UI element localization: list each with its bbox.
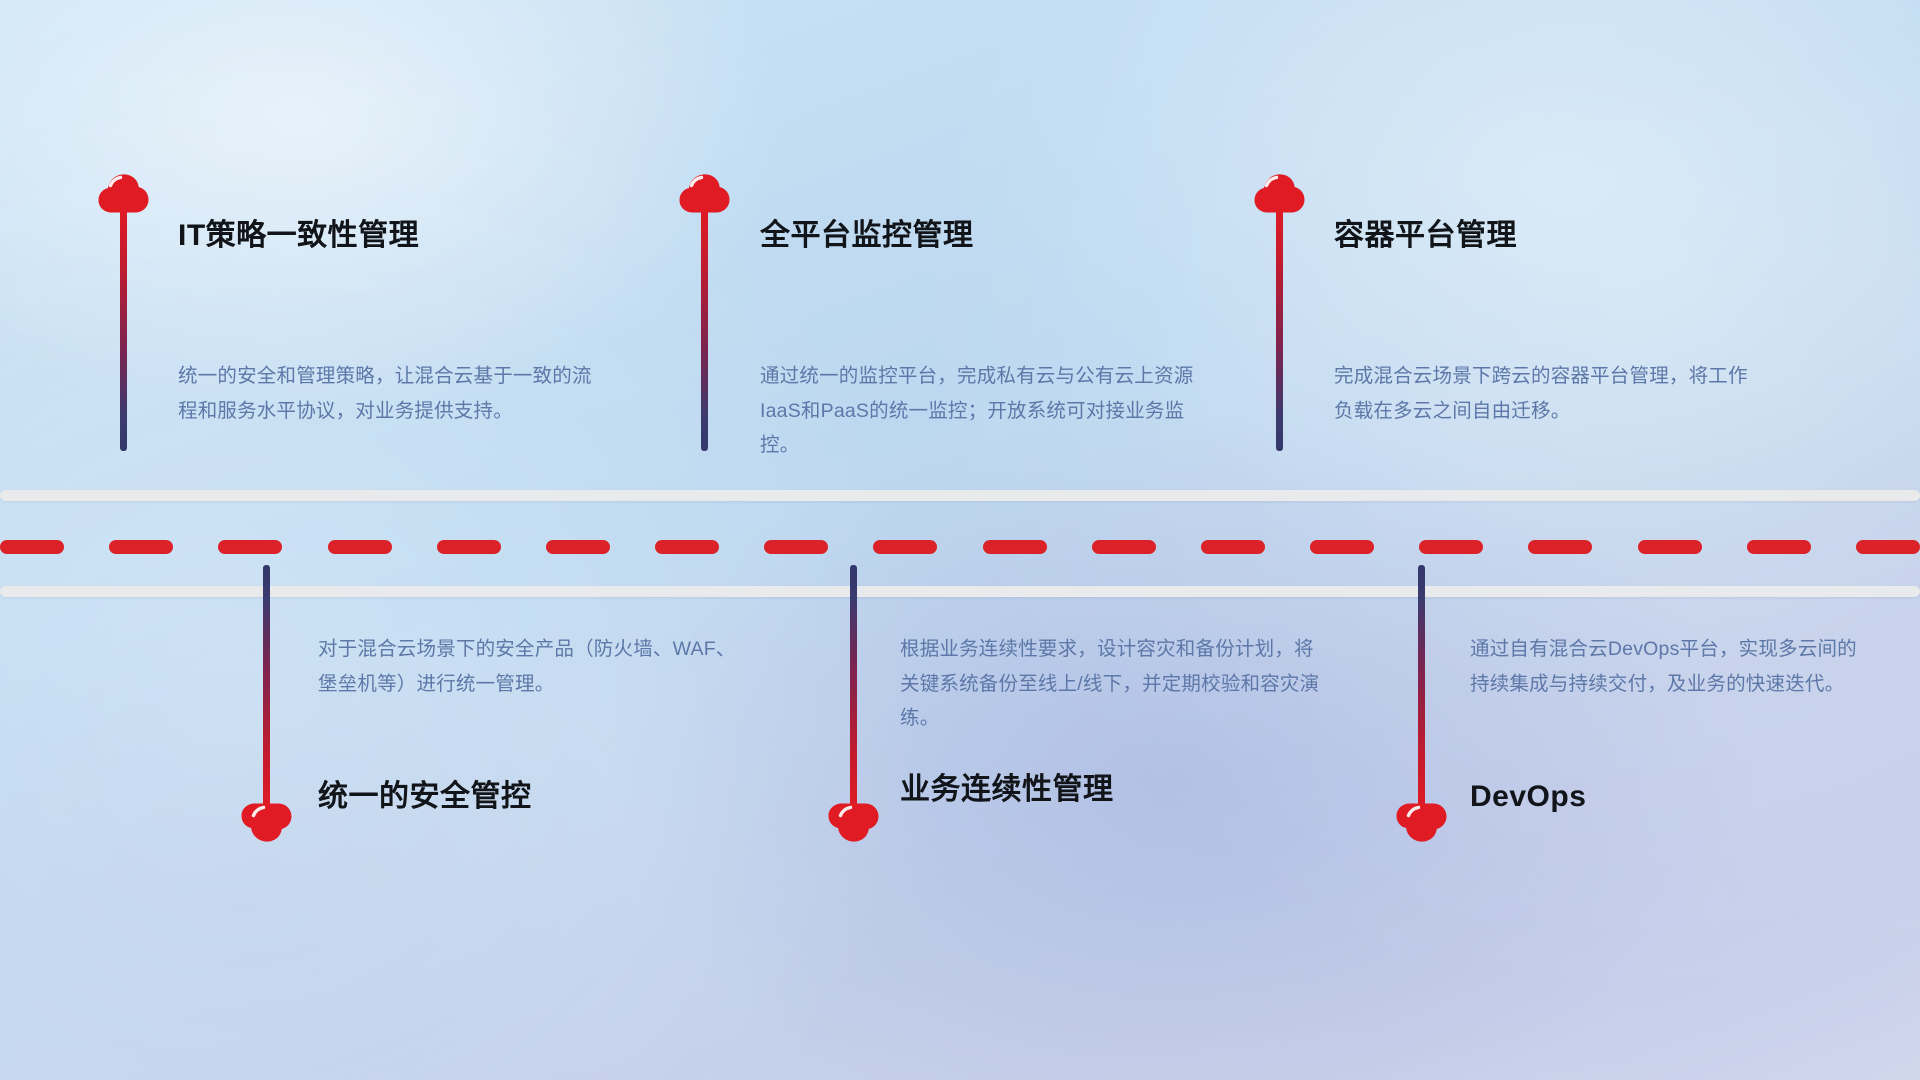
column-top-2: 全平台监控管理 通过统一的监控平台，完成私有云与公有云上资源IaaS和PaaS的… bbox=[760, 218, 1200, 463]
road-dash-segment bbox=[1092, 540, 1156, 554]
column-body: 通过自有混合云DevOps平台，实现多云间的持续集成与持续交付，及业务的快速迭代… bbox=[1470, 632, 1870, 701]
column-bottom-1: 对于混合云场景下的安全产品（防火墙、WAF、堡垒机等）进行统一管理。 统一的安全… bbox=[318, 632, 748, 815]
road-dash-segment bbox=[109, 540, 173, 554]
column-body: 根据业务连续性要求，设计容灾和备份计划，将关键系统备份至线上/线下，并定期校验和… bbox=[900, 632, 1325, 736]
pin-stem bbox=[701, 209, 708, 451]
column-heading: 业务连续性管理 bbox=[900, 772, 1340, 808]
infographic-canvas: IT策略一致性管理 统一的安全和管理策略，让混合云基于一致的流程和服务水平协议，… bbox=[0, 0, 1920, 1080]
road-dash-segment bbox=[764, 540, 828, 554]
cloud-icon bbox=[97, 166, 151, 214]
column-body: 完成混合云场景下跨云的容器平台管理，将工作负载在多云之间自由迁移。 bbox=[1334, 359, 1754, 428]
column-top-1: IT策略一致性管理 统一的安全和管理策略，让混合云基于一致的流程和服务水平协议，… bbox=[178, 218, 608, 428]
road-dash-segment bbox=[983, 540, 1047, 554]
cloud-icon bbox=[240, 802, 294, 850]
cloud-icon bbox=[827, 802, 881, 850]
column-heading: 容器平台管理 bbox=[1334, 218, 1764, 254]
cloud-icon bbox=[1395, 802, 1449, 850]
road-edge-line-bottom bbox=[0, 586, 1920, 597]
cloud-icon bbox=[678, 166, 732, 214]
column-body: 对于混合云场景下的安全产品（防火墙、WAF、堡垒机等）进行统一管理。 bbox=[318, 632, 736, 701]
road-dash-segment bbox=[1638, 540, 1702, 554]
road-dash-segment bbox=[1419, 540, 1483, 554]
road-dash-segment bbox=[1856, 540, 1920, 554]
pin-stem bbox=[263, 565, 270, 807]
road-dash-segment bbox=[328, 540, 392, 554]
pin-stem bbox=[1276, 209, 1283, 451]
pin-stem bbox=[120, 209, 127, 451]
road-dash-segment bbox=[218, 540, 282, 554]
road-dash-segment bbox=[873, 540, 937, 554]
column-heading: DevOps bbox=[1470, 779, 1890, 815]
pin-stem bbox=[1418, 565, 1425, 807]
cloud-icon bbox=[1253, 166, 1307, 214]
road-dash-segment bbox=[1528, 540, 1592, 554]
column-heading: 统一的安全管控 bbox=[318, 779, 748, 815]
road-dash-segment bbox=[437, 540, 501, 554]
road-dash-segment bbox=[1310, 540, 1374, 554]
column-heading: IT策略一致性管理 bbox=[178, 218, 608, 254]
road-edge-line-top bbox=[0, 490, 1920, 501]
column-body: 通过统一的监控平台，完成私有云与公有云上资源IaaS和PaaS的统一监控；开放系… bbox=[760, 359, 1200, 463]
road-center-dashes bbox=[0, 540, 1920, 554]
road-dash-segment bbox=[0, 540, 64, 554]
column-bottom-3: 通过自有混合云DevOps平台，实现多云间的持续集成与持续交付，及业务的快速迭代… bbox=[1470, 632, 1890, 815]
column-bottom-2: 根据业务连续性要求，设计容灾和备份计划，将关键系统备份至线上/线下，并定期校验和… bbox=[900, 632, 1340, 808]
road-dash-segment bbox=[1201, 540, 1265, 554]
road-dash-segment bbox=[546, 540, 610, 554]
road-dash-segment bbox=[1747, 540, 1811, 554]
pin-stem bbox=[850, 565, 857, 807]
column-heading: 全平台监控管理 bbox=[760, 218, 1200, 254]
column-top-3: 容器平台管理 完成混合云场景下跨云的容器平台管理，将工作负载在多云之间自由迁移。 bbox=[1334, 218, 1764, 428]
column-body: 统一的安全和管理策略，让混合云基于一致的流程和服务水平协议，对业务提供支持。 bbox=[178, 359, 603, 428]
road-dash-segment bbox=[655, 540, 719, 554]
